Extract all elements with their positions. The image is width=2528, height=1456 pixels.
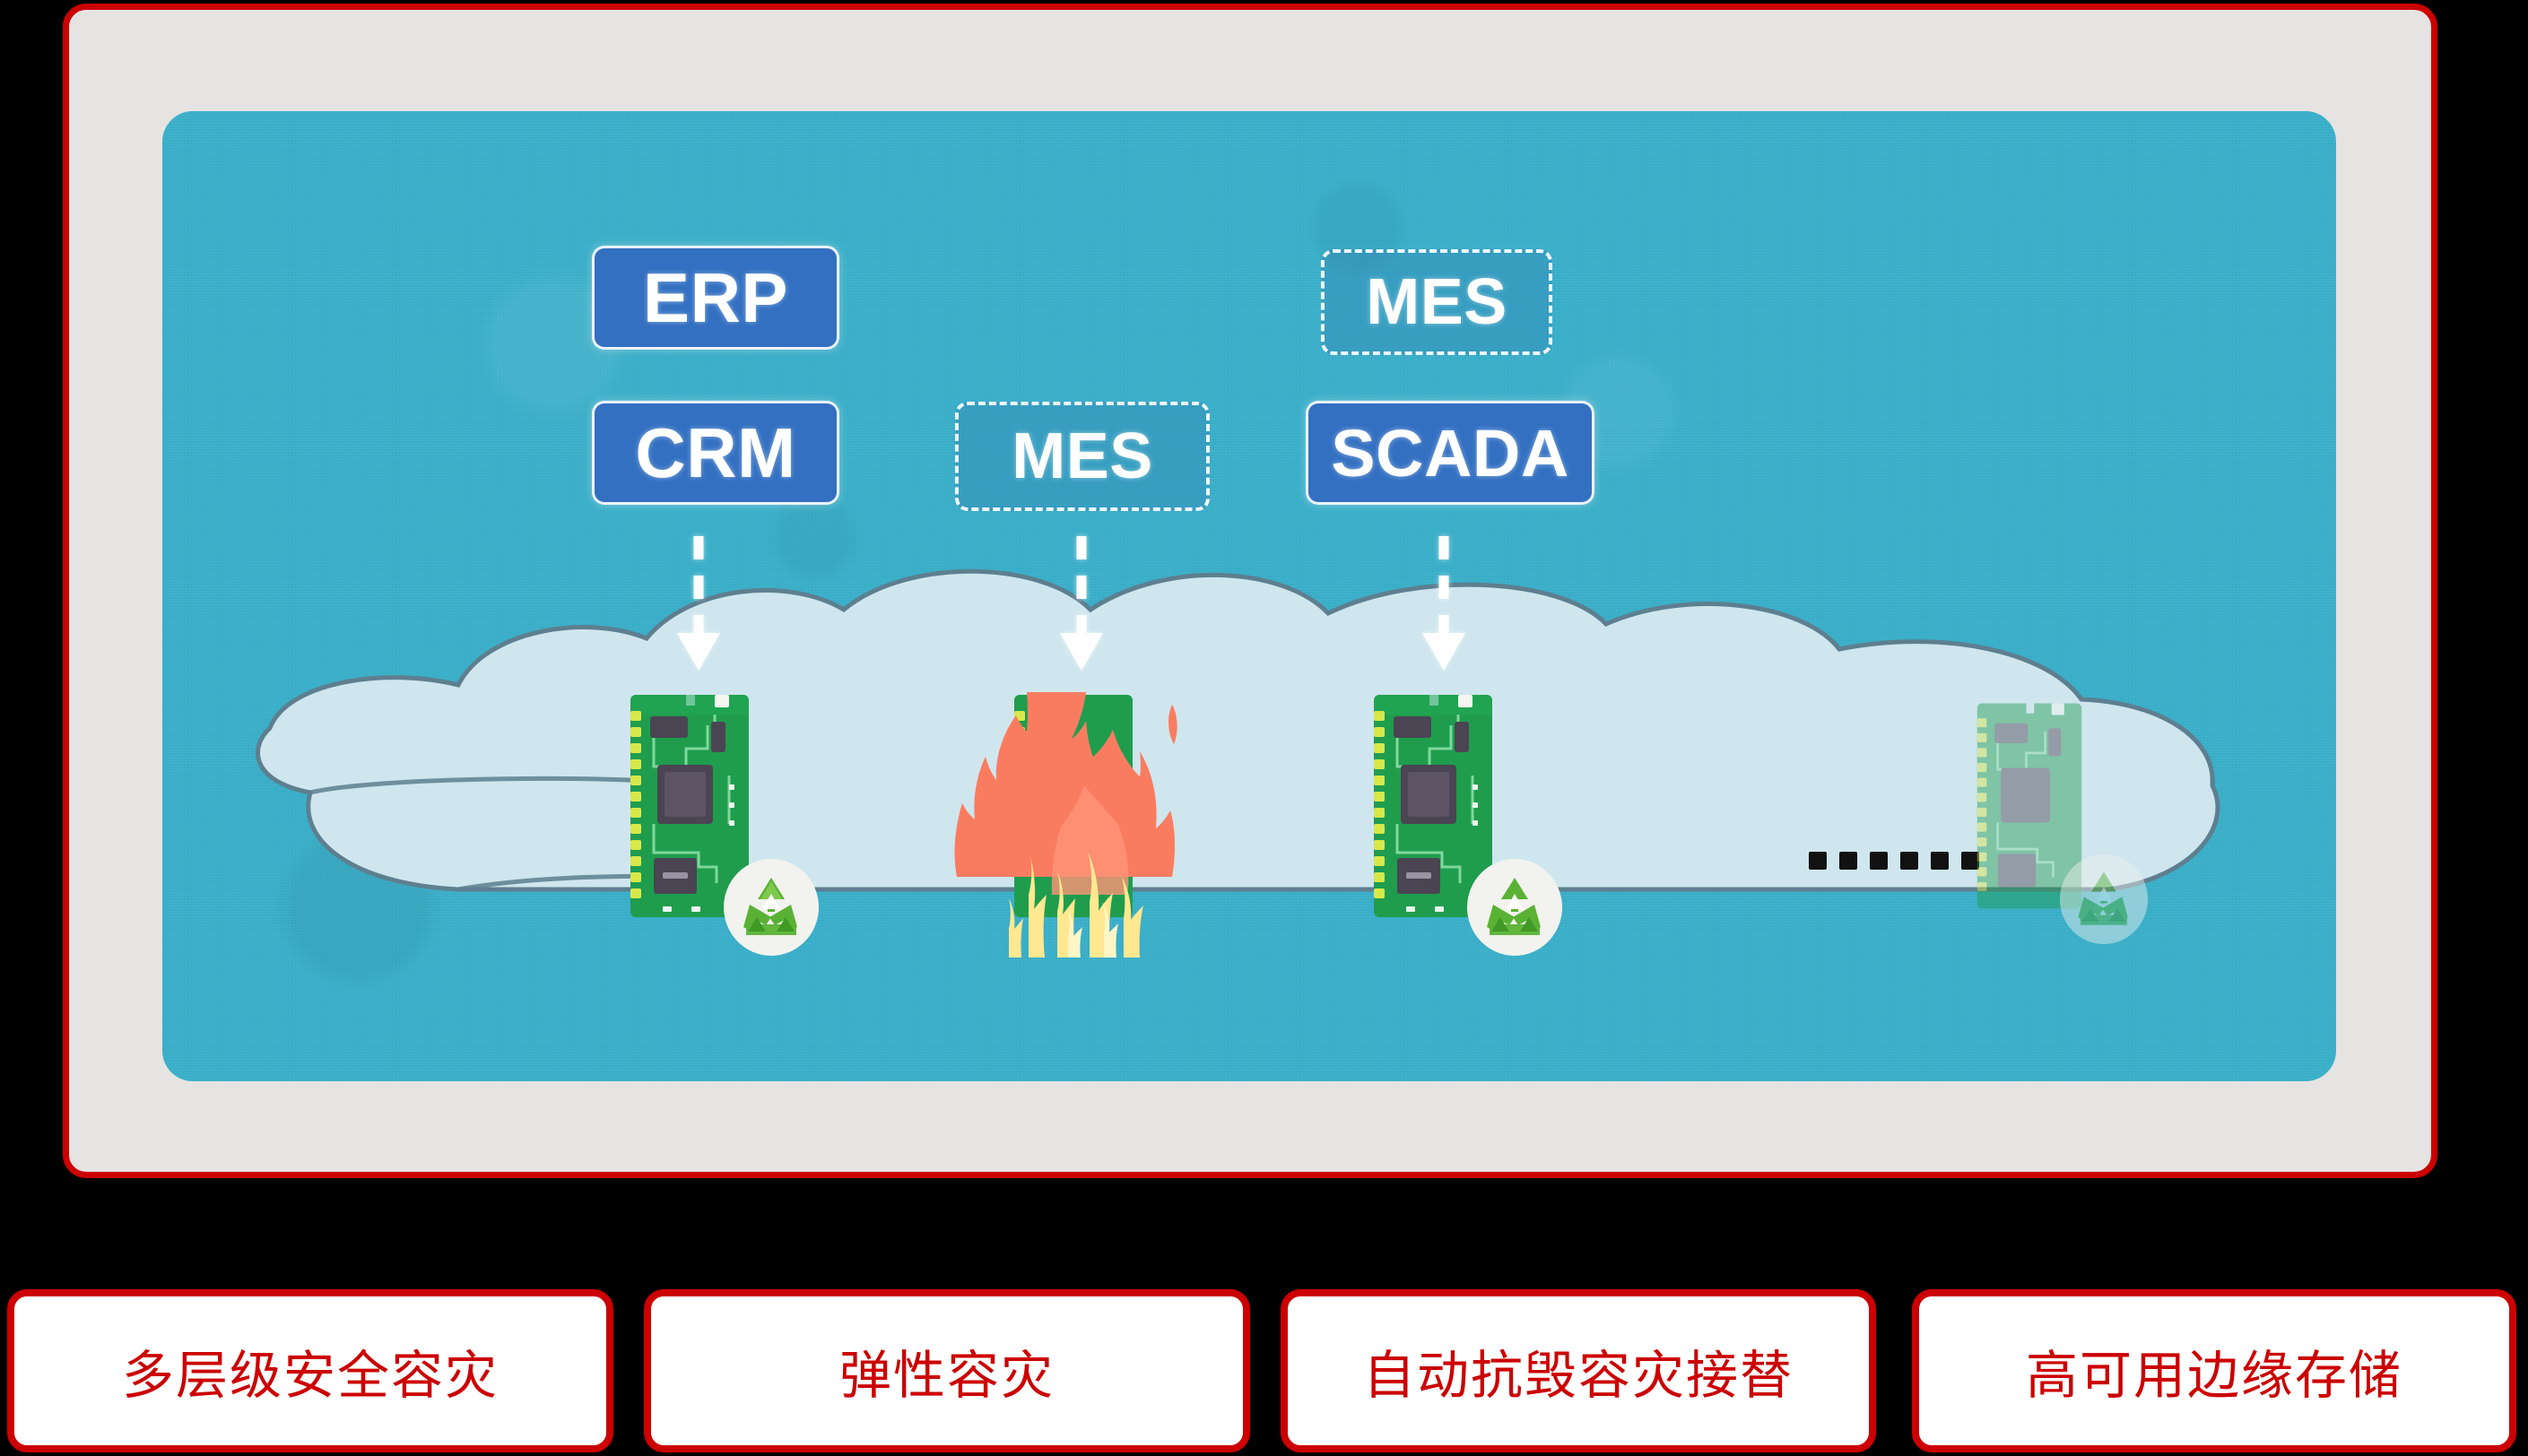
slide-panel: ERP MES CRM MES SCADA bbox=[63, 4, 2437, 1178]
feature-button-row: 多层级安全容灾 弹性容灾 自动抗毁容灾接替 高可用边缘存储 bbox=[0, 1289, 2528, 1452]
arrow-mes-to-node-2 bbox=[1059, 536, 1104, 637]
slide-root: ERP MES CRM MES SCADA bbox=[0, 0, 2528, 1456]
ellipsis-dot bbox=[1809, 852, 1827, 870]
more-nodes-ellipsis bbox=[1809, 852, 1979, 870]
feature-auto-survivable-takeover[interactable]: 自动抗毁容灾接替 bbox=[1281, 1289, 1876, 1452]
feature-label: 自动抗毁容灾接替 bbox=[1363, 1333, 1794, 1408]
chip-crm[interactable]: CRM bbox=[592, 401, 839, 505]
ellipsis-dot bbox=[1931, 852, 1949, 870]
chip-mes-top[interactable]: MES bbox=[1321, 249, 1552, 355]
arrow-head bbox=[1060, 633, 1103, 671]
ellipsis-dot bbox=[1900, 852, 1918, 870]
recycle-icon bbox=[2059, 854, 2149, 945]
illustration-canvas: ERP MES CRM MES SCADA bbox=[162, 111, 2336, 1081]
chip-erp[interactable]: ERP bbox=[592, 246, 839, 350]
arrow-stem bbox=[1439, 536, 1449, 637]
chip-crm-label: CRM bbox=[635, 412, 795, 494]
recycle-badge-node-1 bbox=[723, 858, 820, 957]
recycle-icon bbox=[723, 858, 820, 957]
recycle-badge-node-4 bbox=[2059, 854, 2149, 945]
chip-mes-middle-label: MES bbox=[1012, 420, 1153, 493]
fire-overlay-node-2 bbox=[951, 685, 1221, 981]
feature-label: 高可用边缘存储 bbox=[2026, 1333, 2402, 1408]
feature-label: 弹性容灾 bbox=[839, 1333, 1055, 1408]
feature-ha-edge-storage[interactable]: 高可用边缘存储 bbox=[1912, 1289, 2516, 1452]
ellipsis-dot bbox=[1870, 852, 1888, 870]
ellipsis-dot bbox=[1839, 852, 1857, 870]
feature-label: 多层级安全容灾 bbox=[122, 1333, 499, 1408]
arrow-stem bbox=[1077, 536, 1087, 637]
recycle-badge-node-3 bbox=[1466, 858, 1563, 957]
chip-scada-label: SCADA bbox=[1331, 415, 1569, 491]
feature-elastic-dr[interactable]: 弹性容灾 bbox=[644, 1289, 1250, 1452]
feature-multi-level-security-dr[interactable]: 多层级安全容灾 bbox=[7, 1289, 613, 1452]
chip-mes-middle[interactable]: MES bbox=[955, 402, 1210, 511]
fire-icon bbox=[951, 685, 1221, 981]
arrow-head bbox=[1422, 633, 1465, 671]
arrow-head bbox=[677, 633, 720, 671]
arrow-scada-to-node-3 bbox=[1421, 536, 1466, 637]
recycle-icon bbox=[1466, 858, 1563, 957]
chip-mes-top-label: MES bbox=[1366, 265, 1507, 339]
edge-cloud-shape bbox=[162, 111, 2336, 1081]
chip-scada[interactable]: SCADA bbox=[1306, 401, 1594, 505]
cloud-svg bbox=[162, 111, 2336, 1081]
arrow-crm-to-node-1 bbox=[676, 536, 721, 637]
chip-erp-label: ERP bbox=[643, 257, 788, 339]
arrow-stem bbox=[694, 536, 704, 637]
